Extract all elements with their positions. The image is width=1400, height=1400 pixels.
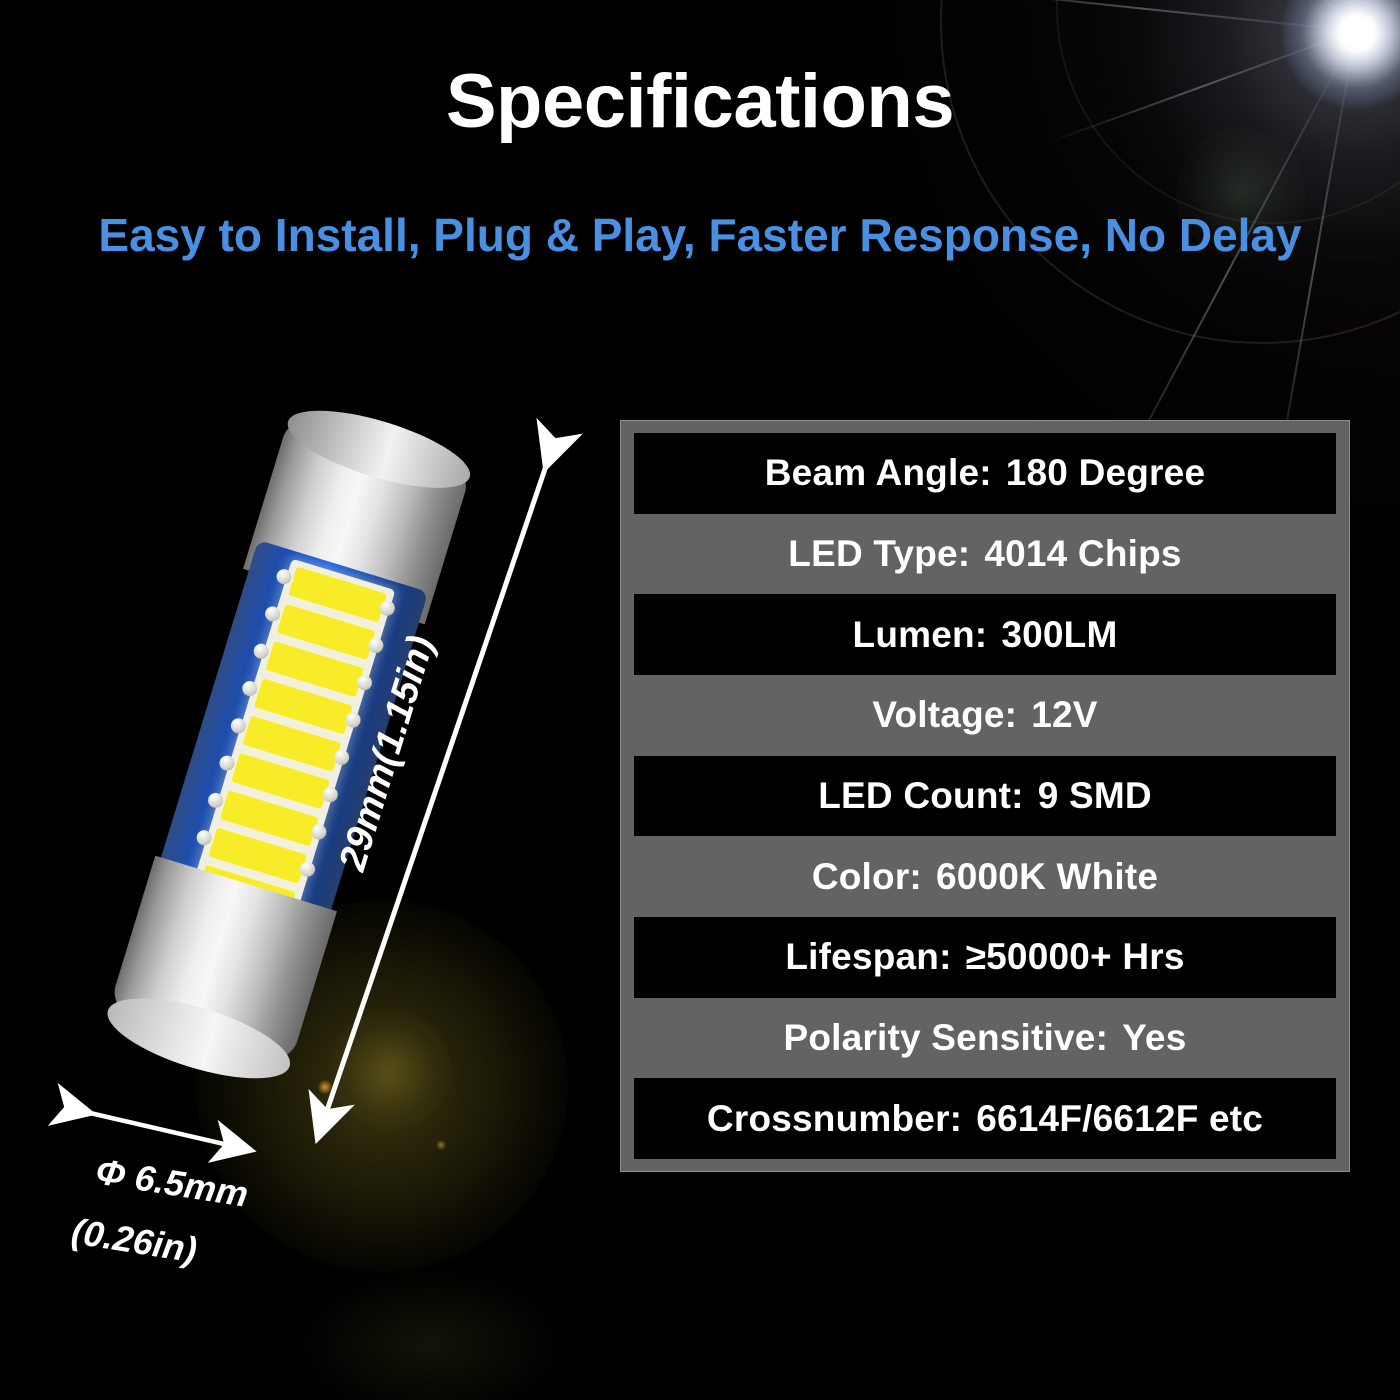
- spec-value: 4014 Chips: [984, 533, 1181, 575]
- led-bulb-body: [103, 397, 478, 1084]
- spec-value: 6000K White: [936, 856, 1158, 898]
- spec-row: LED Type:4014 Chips: [634, 514, 1336, 595]
- spec-value: 300LM: [1001, 614, 1117, 656]
- product-illustration: [90, 370, 560, 1160]
- spec-row: Voltage:12V: [634, 675, 1336, 756]
- product-spec-image: Specifications Easy to Install, Plug & P…: [0, 0, 1400, 1400]
- spec-row: Color:6000K White: [634, 836, 1336, 917]
- spec-value: ≥50000+ Hrs: [966, 936, 1185, 978]
- spec-value: 180 Degree: [1006, 452, 1205, 494]
- spec-label: Beam Angle:: [765, 452, 992, 494]
- spec-row: Crossnumber:6614F/6612F etc: [634, 1078, 1336, 1159]
- specifications-list: Beam Angle:180 DegreeLED Type:4014 Chips…: [634, 433, 1336, 1159]
- spec-value: 6614F/6612F etc: [976, 1098, 1263, 1140]
- spec-row: Polarity Sensitive:Yes: [634, 998, 1336, 1079]
- spec-label: Polarity Sensitive:: [784, 1017, 1109, 1059]
- spec-label: Lumen:: [853, 614, 988, 656]
- spec-label: LED Count:: [818, 775, 1023, 817]
- spec-row: Beam Angle:180 Degree: [634, 433, 1336, 514]
- page-subtitle: Easy to Install, Plug & Play, Faster Res…: [0, 208, 1400, 262]
- spec-value: 9 SMD: [1038, 775, 1152, 817]
- spec-row: Lumen:300LM: [634, 594, 1336, 675]
- page-title: Specifications: [0, 58, 1400, 145]
- spec-label: Voltage:: [872, 694, 1017, 736]
- spec-label: Crossnumber:: [707, 1098, 962, 1140]
- spec-label: Lifespan:: [785, 936, 951, 978]
- spec-row: LED Count:9 SMD: [634, 756, 1336, 837]
- spec-label: Color:: [812, 856, 922, 898]
- flare-orb-dim: [300, 1270, 560, 1400]
- diameter-dimension-label-inches: (0.26in): [69, 1210, 200, 1271]
- spec-value: Yes: [1122, 1017, 1186, 1059]
- spec-row: Lifespan:≥50000+ Hrs: [634, 917, 1336, 998]
- spec-value: 12V: [1031, 694, 1097, 736]
- specifications-panel: Beam Angle:180 DegreeLED Type:4014 Chips…: [620, 420, 1350, 1172]
- spec-label: LED Type:: [788, 533, 970, 575]
